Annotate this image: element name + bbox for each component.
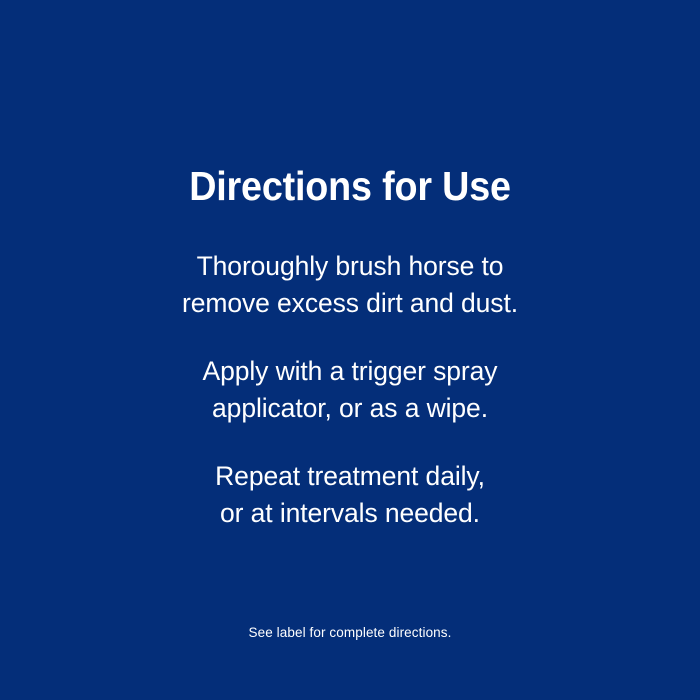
instruction-step: Thoroughly brush horse to remove excess … <box>0 248 700 322</box>
instruction-line: remove excess dirt and dust. <box>0 285 700 322</box>
directions-panel: Directions for Use Thoroughly brush hors… <box>0 0 700 700</box>
footnote-text: See label for complete directions. <box>0 624 700 642</box>
footnote-container: See label for complete directions. <box>0 624 700 642</box>
page-title: Directions for Use <box>28 162 672 210</box>
heading-container: Directions for Use <box>0 162 700 210</box>
instruction-step: Repeat treatment daily, or at intervals … <box>0 458 700 532</box>
instruction-list: Thoroughly brush horse to remove excess … <box>0 248 700 532</box>
instruction-step: Apply with a trigger spray applicator, o… <box>0 353 700 427</box>
instruction-line: or at intervals needed. <box>0 495 700 532</box>
instruction-line: Thoroughly brush horse to <box>0 248 700 285</box>
instruction-line: Apply with a trigger spray <box>0 353 700 390</box>
instruction-line: applicator, or as a wipe. <box>0 390 700 427</box>
instruction-line: Repeat treatment daily, <box>0 458 700 495</box>
